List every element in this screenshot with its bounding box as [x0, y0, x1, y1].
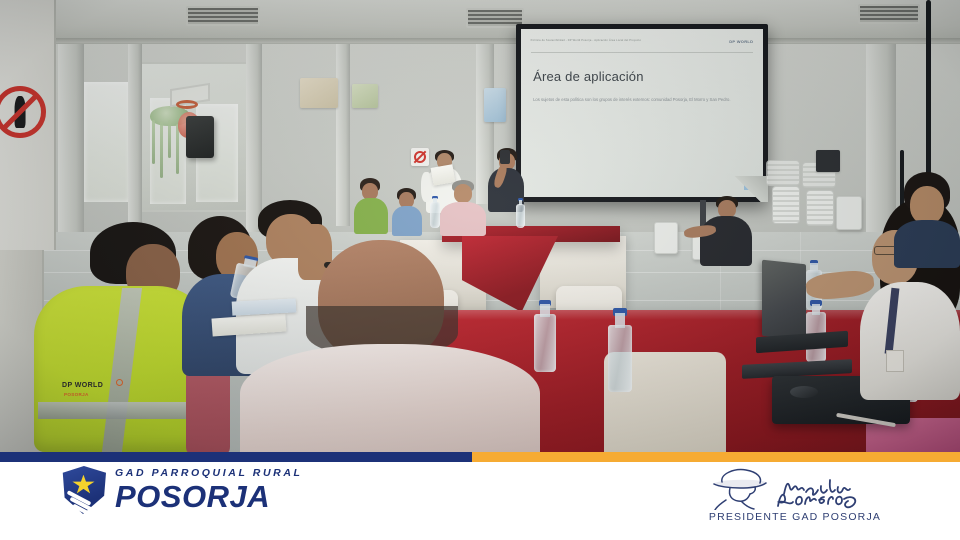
wall-column: [336, 44, 350, 226]
water-bottle: [806, 300, 826, 362]
seated-attendee: [392, 188, 422, 236]
president-caption: PRESIDENTE GAD POSORJA: [690, 511, 900, 523]
no-pedestrian-icon: [0, 86, 46, 138]
open-laptop-screen[interactable]: [762, 260, 806, 341]
ceiling-vent: [186, 6, 260, 26]
plant-vine: [160, 122, 163, 178]
institutional-footer-banner: GAD PARROQUIAL RURAL POSORJA: [0, 452, 960, 540]
plant-vine: [152, 120, 155, 164]
attendee-background-right: [890, 172, 960, 268]
seated-attendee: [440, 180, 486, 236]
slide-header: Política de Sostenibilidad - DP World Po…: [531, 39, 754, 52]
meeting-photograph: Política de Sostenibilidad - DP World Po…: [0, 0, 960, 452]
wall-column: [128, 44, 142, 234]
slide-eyebrow-text: Política de Sostenibilidad - DP World Po…: [531, 39, 754, 42]
seated-attendee: [700, 196, 752, 266]
footer-band-blue: [0, 452, 472, 462]
footer-band-orange: [472, 452, 960, 462]
seated-attendee: [354, 178, 388, 234]
slide-body-text: Los sujetos de esta política son los gru…: [533, 96, 734, 103]
logo-main-line: POSORJA: [115, 481, 303, 512]
logo-top-line: GAD PARROQUIAL RURAL: [115, 468, 303, 479]
window: [84, 82, 130, 202]
shield-icon: [60, 466, 106, 514]
dp-world-logo-slide: DP WORLD: [729, 39, 753, 44]
ceiling-beam: [0, 38, 960, 43]
vest-dp-world-logo: DP WORLD: [62, 382, 103, 389]
projected-slide: Política de Sostenibilidad - DP World Po…: [521, 29, 763, 197]
wall-artwork: [300, 78, 338, 108]
posorja-logo: GAD PARROQUIAL RURAL POSORJA: [60, 466, 303, 514]
wall-column: [58, 44, 84, 244]
loudspeaker: [186, 116, 214, 158]
plastic-chair: [654, 222, 678, 254]
foreground-attendee-back: [240, 240, 540, 452]
signature-graphic: [690, 466, 900, 510]
screenshot-root: Política de Sostenibilidad - DP World Po…: [0, 0, 960, 540]
stacked-plastic-chair: [806, 190, 834, 226]
wall-artwork: [352, 84, 378, 108]
basketball-hoop: [176, 100, 198, 109]
water-bottle: [516, 198, 525, 228]
projector-screen: Política de Sostenibilidad - DP World Po…: [516, 24, 768, 202]
reflective-strip: [102, 288, 142, 452]
wall-artwork: [484, 88, 506, 122]
slide-title: Área de aplicación: [533, 69, 644, 84]
dp-world-mark: [116, 379, 123, 386]
president-signature-block: PRESIDENTE GAD POSORJA: [690, 466, 900, 523]
stacked-plastic-chair: [772, 186, 800, 224]
wall-sign-panel: [0, 0, 56, 250]
water-bottle: [608, 308, 632, 392]
plant-vine: [168, 120, 171, 158]
ceiling-vent: [858, 4, 920, 24]
projector-lens: [790, 386, 818, 398]
reflective-strip: [38, 402, 206, 419]
stacked-plastic-chair: [766, 160, 800, 186]
dark-box: [816, 150, 840, 172]
id-badge: [886, 350, 904, 372]
water-bottle: [534, 300, 556, 372]
vest-sublabel: POSORJA: [64, 392, 89, 397]
water-bottle: [430, 196, 440, 228]
